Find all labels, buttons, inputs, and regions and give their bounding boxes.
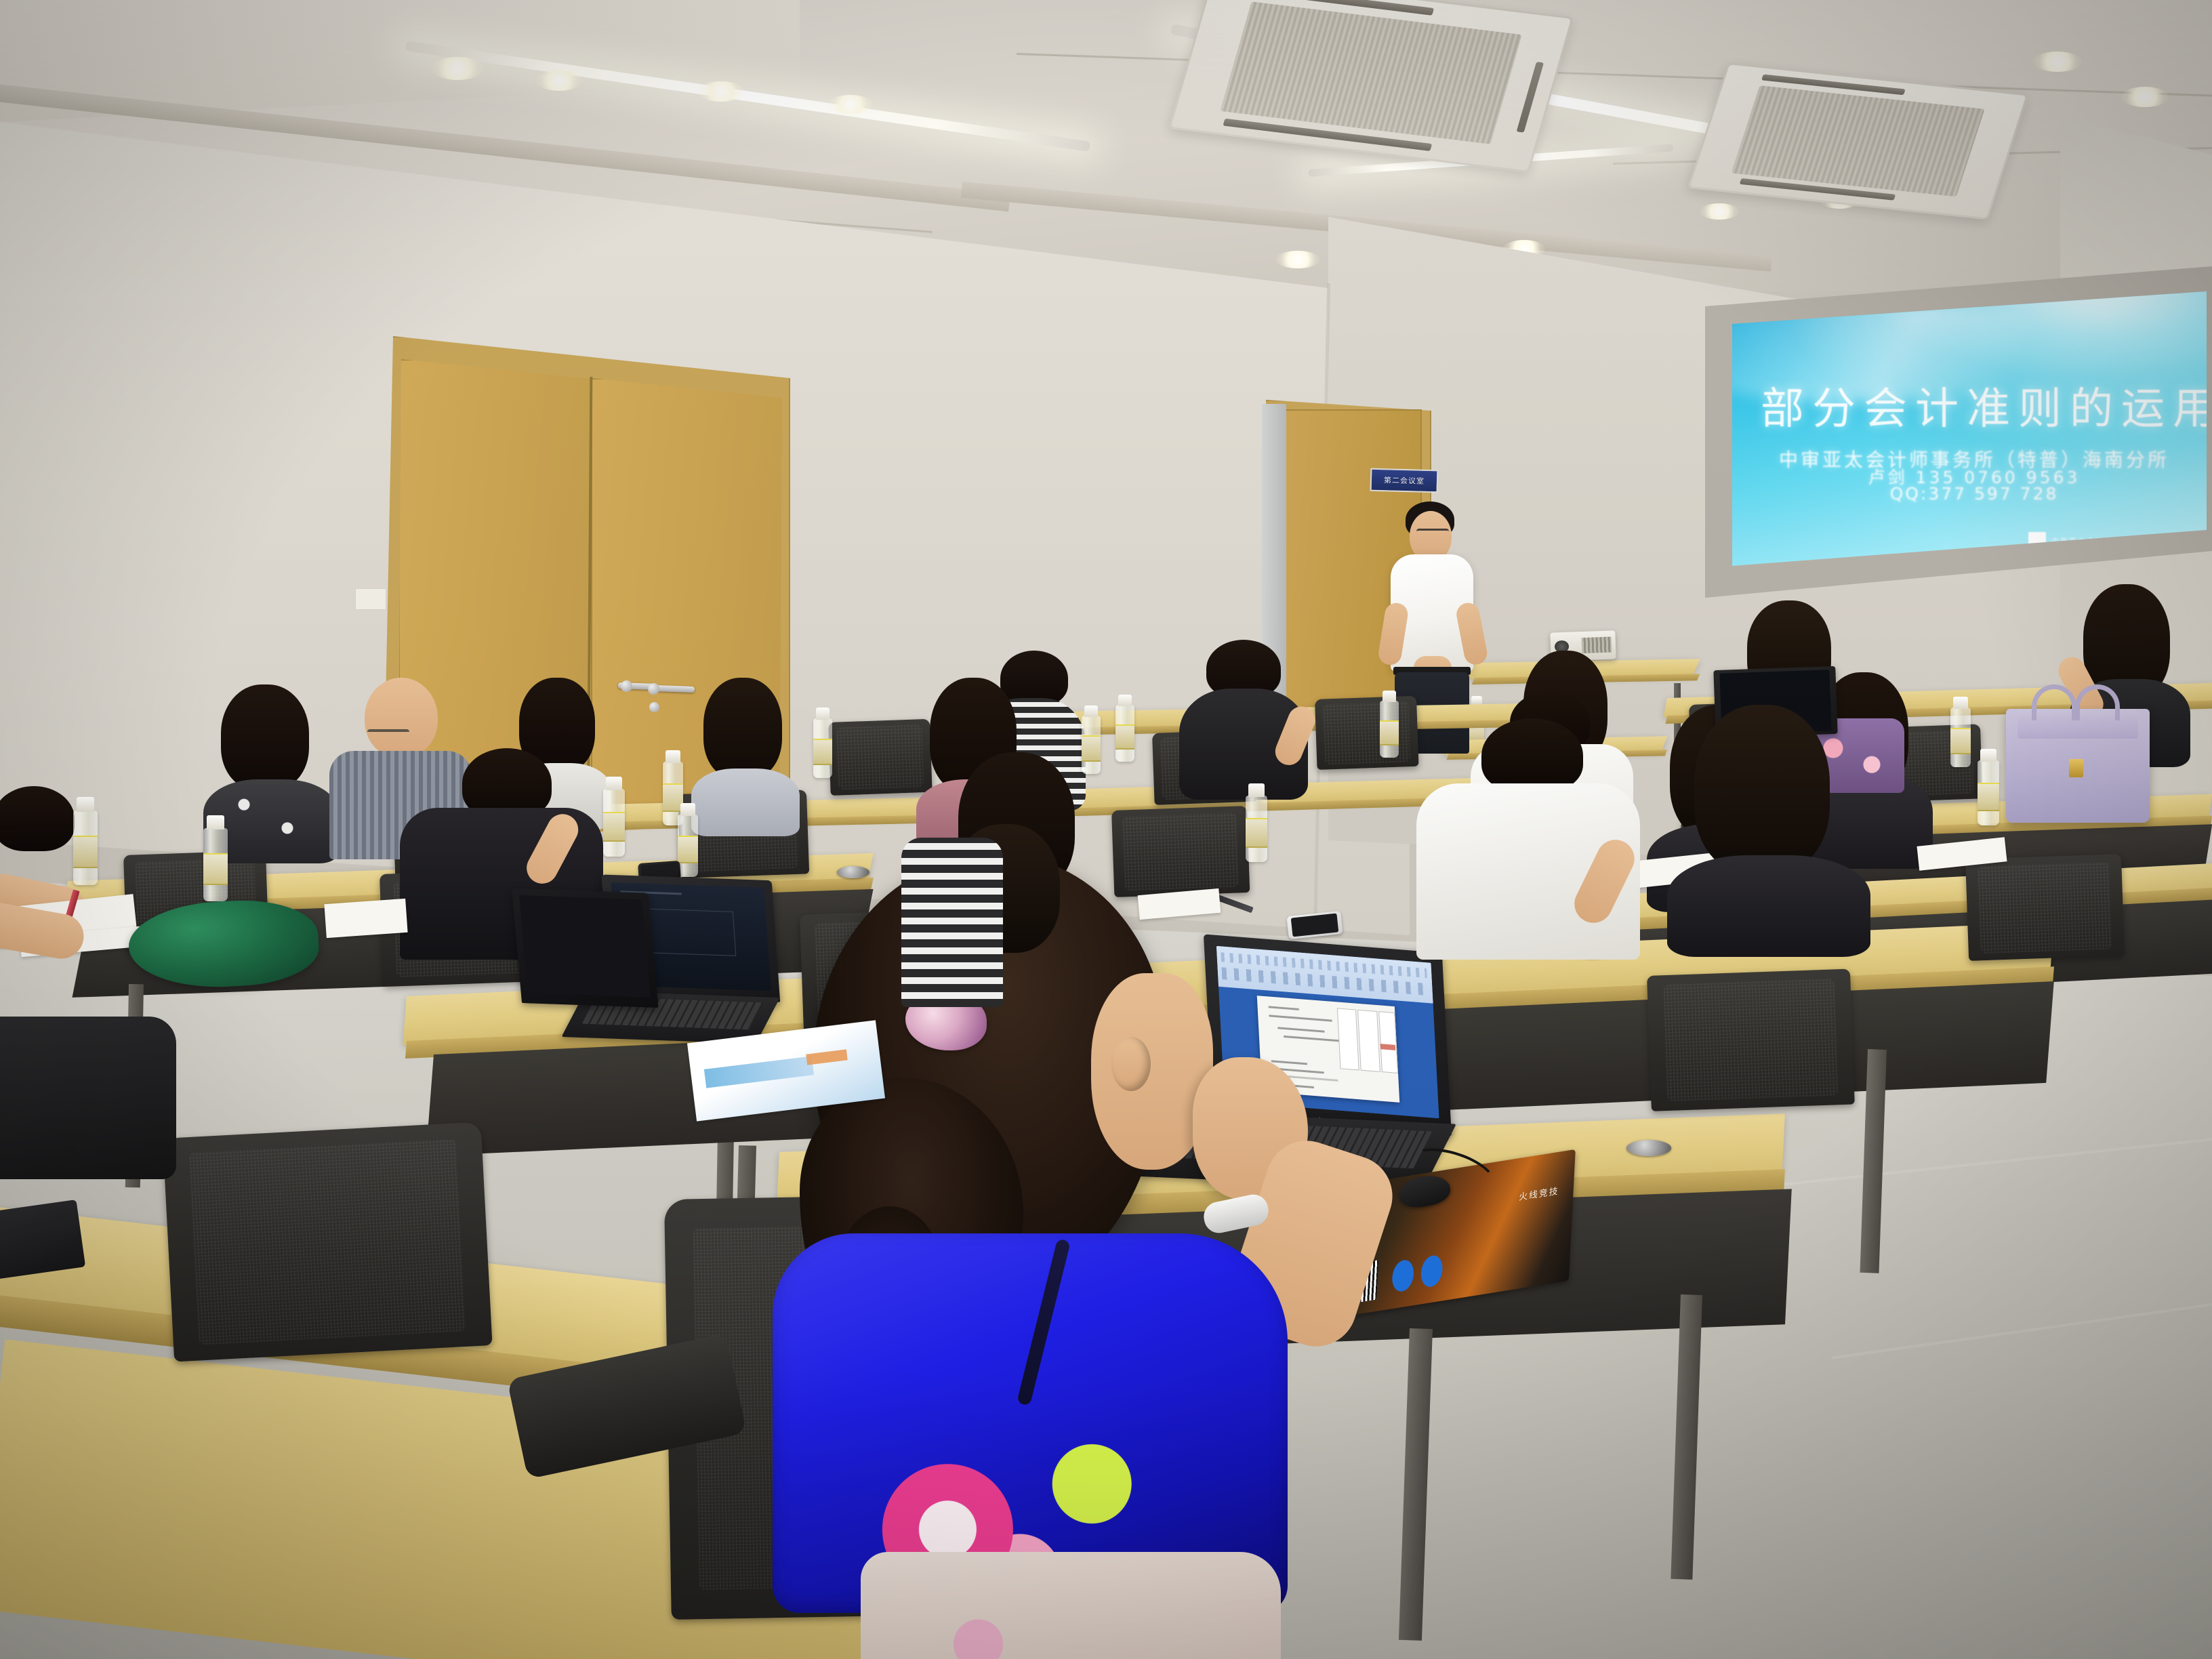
attendee-ponytail-right <box>1667 705 1870 949</box>
bottle-label <box>203 853 228 885</box>
desk-grommet-c <box>1626 1140 1671 1156</box>
water-bottle-6 <box>1082 716 1101 774</box>
chair-back-3[interactable] <box>1315 696 1419 770</box>
paper-white-stack <box>324 899 407 938</box>
bag-foreground-left <box>0 1017 176 1179</box>
downlight-2 <box>535 70 583 91</box>
attendee-head <box>365 678 438 758</box>
foreground-skirt <box>861 1552 1281 1659</box>
chair-mesh <box>189 1139 466 1345</box>
ac-vane-right <box>1516 62 1543 132</box>
chair-mesh <box>1978 861 2112 954</box>
slide-subtitle-qq: QQ:377 597 728 <box>1751 484 2197 504</box>
bottle-label <box>1950 728 1971 754</box>
bottle-label <box>1978 783 1999 811</box>
downlight-4 <box>828 95 873 114</box>
bottle-cap <box>207 815 224 830</box>
presenter <box>1376 501 1491 718</box>
bottle-cap <box>1118 695 1132 706</box>
water-bottle-1 <box>73 811 98 885</box>
bottle-cap <box>606 777 621 790</box>
attendee-hair <box>0 786 75 851</box>
intel-badge-icon-2 <box>1420 1254 1443 1289</box>
chair-mesh <box>1663 979 1838 1101</box>
door-lock-cylinder[interactable] <box>649 702 659 712</box>
bottle-cap <box>1382 691 1396 702</box>
water-bottle-8 <box>1246 796 1267 862</box>
attendee-torso <box>901 838 1003 1007</box>
handbag-clasp-icon <box>2069 759 2083 777</box>
water-bottle-9 <box>1380 701 1399 758</box>
bottle-cap <box>77 797 94 812</box>
bottle-cap <box>1980 749 1996 762</box>
water-bottle-2 <box>203 828 228 901</box>
door-plaque: 第二会议室 <box>1370 468 1439 493</box>
downlight-13 <box>2033 52 2082 72</box>
laptop-left-2[interactable] <box>522 888 678 1044</box>
attendee-back-dark <box>1179 640 1308 796</box>
attendee-torso <box>691 769 800 836</box>
bottle-cap <box>1248 783 1264 797</box>
doc-diagram-box-3 <box>1378 1011 1398 1073</box>
bottle-cap <box>665 750 680 763</box>
attendee-torso <box>1667 855 1870 957</box>
mousepad-text: 火线竞技 <box>1519 1183 1559 1203</box>
attendee-hair <box>1481 718 1583 793</box>
bottle-label <box>73 836 98 868</box>
chair-mesh <box>836 724 924 790</box>
door-escutcheon-left <box>621 680 632 692</box>
attendee-glasses-icon <box>367 729 409 741</box>
water-bottle-5 <box>813 718 832 778</box>
doc-highlight <box>1380 1044 1395 1050</box>
downlight-3 <box>698 81 744 102</box>
attendee-hair <box>221 684 309 790</box>
foreground-attendee <box>773 854 1369 1599</box>
attendee-striped-behind <box>901 824 1064 1014</box>
attendee-hair <box>703 678 782 779</box>
bottle-label <box>678 836 698 863</box>
door-plaque-label: 第二会议室 <box>1384 474 1425 487</box>
water-bottle-7 <box>1115 705 1134 762</box>
presenter-glasses-icon <box>1416 529 1449 539</box>
chair-foreground-left[interactable] <box>163 1122 493 1361</box>
downlight-12 <box>2121 87 2169 107</box>
water-bottle-10 <box>1950 708 1971 767</box>
attendee-white-shirt-mid <box>1416 718 1640 949</box>
bottle-label <box>1380 720 1399 746</box>
bottle-label <box>1115 724 1134 750</box>
downlight-10 <box>1700 203 1739 220</box>
downlight-1 <box>431 57 484 80</box>
laptop-lid <box>512 888 658 1008</box>
attendee-hair <box>1694 705 1830 874</box>
ac-grille <box>1731 85 1985 197</box>
slide-title: 部分会计准则的运用 <box>1761 374 2197 436</box>
bottle-cap <box>680 803 695 815</box>
light-switch[interactable] <box>355 588 386 610</box>
downlight-7 <box>1275 251 1320 268</box>
chair-row3-right[interactable] <box>1965 854 2125 961</box>
laptop-screen <box>519 895 651 997</box>
foreground-ear <box>1111 1037 1151 1091</box>
bottle-label <box>813 739 832 765</box>
bottle-label <box>603 812 625 842</box>
water-bottle-3 <box>603 789 625 857</box>
projection-screen: 部分会计准则的运用 中审亚太会计师事务所（特普）海南分所 卢剑 135 0760… <box>1732 291 2207 566</box>
bottle-cap <box>1953 697 1968 709</box>
bottle-label <box>1246 818 1267 847</box>
classroom-photo: 第二会议室 部分会计准则的运用 中审亚太会计师事务所（特普）海南分所 卢剑 13… <box>0 0 2212 1659</box>
attendee-hand-writing <box>0 898 87 962</box>
attendee-mid-left-1 <box>691 678 800 827</box>
bottle-label <box>1082 735 1101 761</box>
handbag <box>2006 709 2150 823</box>
water-bottle-11 <box>1978 760 1999 825</box>
door-escutcheon-right <box>648 683 659 695</box>
bottle-cap <box>816 708 829 720</box>
intel-badge-icon <box>1391 1258 1414 1294</box>
bottle-cap <box>1084 705 1098 717</box>
water-bottle-12 <box>678 815 698 877</box>
chair-row4-right[interactable] <box>1647 969 1855 1111</box>
